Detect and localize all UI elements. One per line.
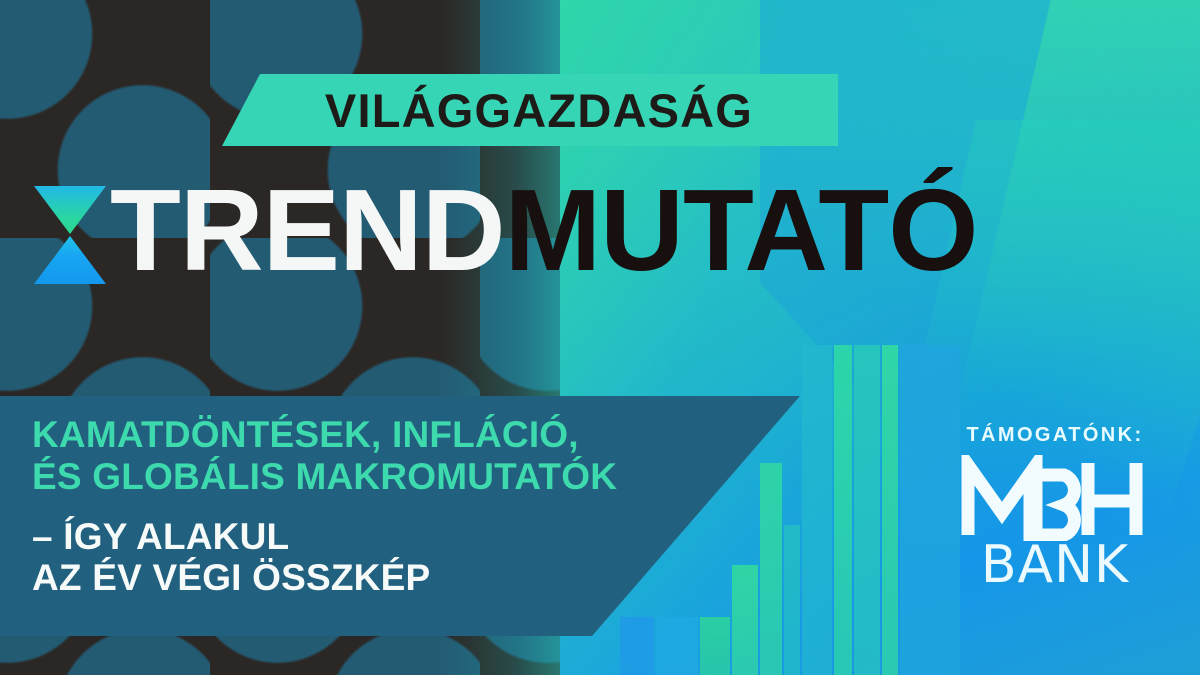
bar-9 <box>882 345 898 675</box>
bar-7 <box>834 345 852 675</box>
hourglass-top-triangle <box>34 186 106 234</box>
bar-8 <box>854 345 880 675</box>
bar-1 <box>656 617 698 675</box>
headline-group: KAMATDÖNTÉSEK, INFLÁCIÓ, ÉS GLOBÁLIS MAK… <box>32 414 792 599</box>
headline-line-2: ÉS GLOBÁLIS MAKROMUTATÓK <box>32 456 792 498</box>
bar-0 <box>620 617 654 675</box>
bar-6 <box>802 345 832 675</box>
bar-2 <box>700 617 730 675</box>
headline-line-1: KAMATDÖNTÉSEK, INFLÁCIÓ, <box>32 414 792 456</box>
sponsor-label: TÁMOGATÓNK: <box>940 424 1170 447</box>
wordmark: TRENDMUTATÓ <box>110 170 977 290</box>
sponsor-sub-label: BANK <box>940 535 1170 595</box>
sponsor-block: TÁMOGATÓNK: BANK <box>940 424 1170 595</box>
eyebrow-label: VILÁGGAZDASÁG <box>307 83 753 138</box>
hourglass-bottom-triangle <box>34 236 106 284</box>
wordmark-secondary: MUTATÓ <box>505 163 978 297</box>
hourglass-icon <box>34 186 106 284</box>
promo-banner: VILÁGGAZDASÁG TRENDMUTATÓ KAMATDÖNTÉSEK,… <box>0 0 1200 675</box>
headline-line-3: – ÍGY ALAKUL <box>32 516 792 558</box>
eyebrow-banner: VILÁGGAZDASÁG <box>222 74 838 146</box>
headline-line-4: AZ ÉV VÉGI ÖSSZKÉP <box>32 557 792 599</box>
mbh-logo-icon <box>940 455 1170 541</box>
wordmark-primary: TREND <box>110 163 505 297</box>
